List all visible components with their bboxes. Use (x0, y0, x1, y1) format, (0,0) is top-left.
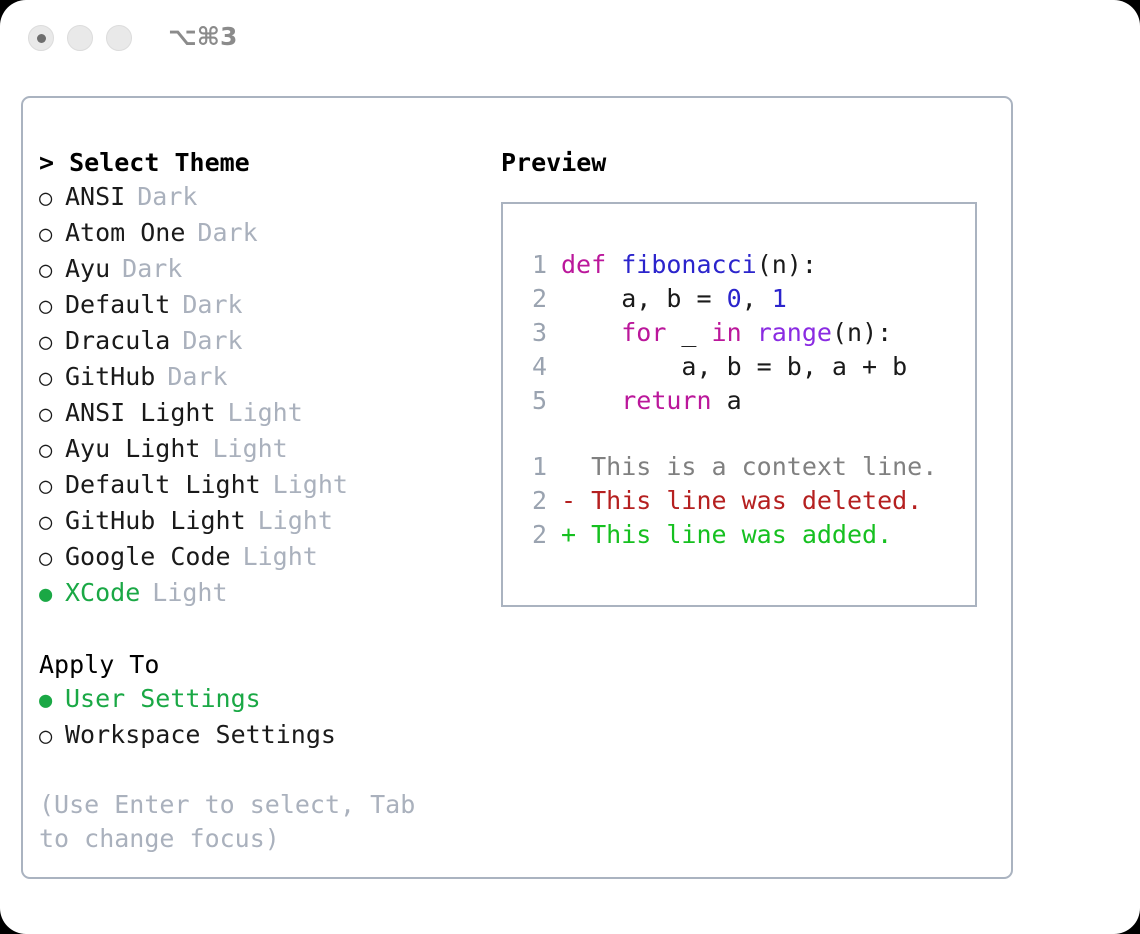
keyboard-hint-text: (Use Enter to select, Tab to change focu… (39, 788, 459, 856)
diff-text: + This line was added. (561, 518, 892, 552)
theme-option-label: GitHub (65, 360, 155, 394)
code-text: a, b = b, a + b (561, 350, 907, 384)
token-fn: fibonacci (621, 250, 756, 279)
theme-option-kind: Dark (137, 180, 197, 214)
keyboard-shortcut-label: ⌥⌘3 (168, 22, 237, 51)
apply-option-0[interactable]: ●User Settings (39, 682, 479, 718)
token-plain (561, 318, 621, 347)
code-text: def fibonacci(n): (561, 248, 817, 282)
theme-option-kind: Light (273, 468, 348, 502)
record-inner-dot (37, 34, 46, 43)
radio-unselected-icon: ○ (39, 362, 65, 396)
token-add: + This line was added. (561, 520, 892, 549)
diff-line: 2- This line was deleted. (517, 484, 967, 518)
theme-option-7[interactable]: ○Ayu LightLight (39, 432, 479, 468)
theme-option-5[interactable]: ○GitHubDark (39, 360, 479, 396)
radio-unselected-icon: ○ (39, 326, 65, 360)
theme-option-11[interactable]: ●XCodeLight (39, 576, 479, 612)
theme-option-8[interactable]: ○Default LightLight (39, 468, 479, 504)
token-call: range (757, 318, 832, 347)
token-plain (742, 318, 757, 347)
diff-line: 1 This is a context line. (517, 450, 967, 484)
code-lineno: 2 (517, 282, 547, 316)
theme-option-label: XCode (65, 576, 140, 610)
token-kw: return (621, 386, 711, 415)
theme-option-label: Default Light (65, 468, 261, 502)
radio-unselected-icon: ○ (39, 398, 65, 432)
select-theme-header: > Select Theme (39, 146, 479, 180)
token-plain: (n): (832, 318, 892, 347)
theme-option-kind: Light (243, 540, 318, 574)
theme-picker-column: > Select Theme ○ANSIDark○Atom OneDark○Ay… (39, 146, 479, 856)
token-plain: a, b = (561, 284, 727, 313)
theme-option-label: Dracula (65, 324, 170, 358)
radio-unselected-icon: ○ (39, 434, 65, 468)
code-sample: 1def fibonacci(n):2 a, b = 0, 13 for _ i… (517, 248, 967, 418)
theme-option-label: Default (65, 288, 170, 322)
token-del: - This line was deleted. (561, 486, 922, 515)
token-plain: _ (666, 318, 711, 347)
apply-option-1[interactable]: ○Workspace Settings (39, 718, 479, 754)
code-line: 1def fibonacci(n): (517, 248, 967, 282)
main-panel: > Select Theme ○ANSIDark○Atom OneDark○Ay… (21, 96, 1013, 879)
token-plain: a (712, 386, 742, 415)
token-num: 0 (727, 284, 742, 313)
apply-to-list: ●User Settings○Workspace Settings (39, 682, 479, 754)
code-line: 5 return a (517, 384, 967, 418)
apply-option-label: User Settings (65, 682, 261, 716)
code-text: return a (561, 384, 742, 418)
code-line: 3 for _ in range(n): (517, 316, 967, 350)
theme-option-label: Google Code (65, 540, 231, 574)
radio-selected-icon: ● (39, 578, 65, 612)
radio-selected-icon: ● (39, 684, 65, 718)
theme-option-3[interactable]: ○DefaultDark (39, 288, 479, 324)
token-kw: for (621, 318, 666, 347)
theme-option-4[interactable]: ○DraculaDark (39, 324, 479, 360)
record-dot-icon[interactable] (28, 25, 54, 51)
apply-to-header: Apply To (39, 648, 479, 682)
theme-option-label: Ayu (65, 252, 110, 286)
theme-option-kind: Light (258, 504, 333, 538)
theme-option-kind: Light (152, 576, 227, 610)
theme-option-kind: Dark (122, 252, 182, 286)
theme-option-label: GitHub Light (65, 504, 246, 538)
radio-unselected-icon: ○ (39, 218, 65, 252)
token-plain (561, 386, 621, 415)
theme-option-9[interactable]: ○GitHub LightLight (39, 504, 479, 540)
preview-title: Preview (501, 146, 991, 180)
theme-option-label: Atom One (65, 216, 185, 250)
code-lineno: 5 (517, 384, 547, 418)
theme-option-kind: Dark (167, 360, 227, 394)
traffic-light-group (28, 25, 132, 51)
apply-option-label: Workspace Settings (65, 718, 336, 752)
diff-text: This is a context line. (561, 450, 937, 484)
theme-option-kind: Light (212, 432, 287, 466)
theme-option-kind: Dark (182, 324, 242, 358)
theme-option-0[interactable]: ○ANSIDark (39, 180, 479, 216)
theme-option-2[interactable]: ○AyuDark (39, 252, 479, 288)
theme-option-label: Ayu Light (65, 432, 200, 466)
window-dot-icon-2[interactable] (67, 25, 93, 51)
diff-lineno: 1 (517, 450, 547, 484)
radio-unselected-icon: ○ (39, 182, 65, 216)
theme-option-kind: Light (228, 396, 303, 430)
code-text: for _ in range(n): (561, 316, 892, 350)
radio-unselected-icon: ○ (39, 542, 65, 576)
diff-line: 2+ This line was added. (517, 518, 967, 552)
code-line: 2 a, b = 0, 1 (517, 282, 967, 316)
preview-box: 1def fibonacci(n):2 a, b = 0, 13 for _ i… (501, 202, 977, 607)
diff-lineno: 2 (517, 484, 547, 518)
theme-option-kind: Dark (197, 216, 257, 250)
token-num: 1 (772, 284, 787, 313)
theme-option-10[interactable]: ○Google CodeLight (39, 540, 479, 576)
theme-list: ○ANSIDark○Atom OneDark○AyuDark○DefaultDa… (39, 180, 479, 612)
theme-option-label: ANSI (65, 180, 125, 214)
radio-unselected-icon: ○ (39, 506, 65, 540)
diff-text: - This line was deleted. (561, 484, 922, 518)
theme-option-kind: Dark (182, 288, 242, 322)
preview-column: Preview 1def fibonacci(n):2 a, b = 0, 13… (501, 146, 991, 607)
code-line: 4 a, b = b, a + b (517, 350, 967, 384)
radio-unselected-icon: ○ (39, 720, 65, 754)
token-plain: (n): (757, 250, 817, 279)
code-lineno: 4 (517, 350, 547, 384)
token-kw: in (712, 318, 742, 347)
code-lineno: 1 (517, 248, 547, 282)
diff-sample: 1 This is a context line.2- This line wa… (517, 450, 967, 552)
token-kw: def (561, 250, 621, 279)
token-ctx: This is a context line. (561, 452, 937, 481)
title-bar: ⌥⌘3 (0, 0, 1140, 78)
theme-option-label: ANSI Light (65, 396, 216, 430)
diff-lineno: 2 (517, 518, 547, 552)
radio-unselected-icon: ○ (39, 470, 65, 504)
theme-option-6[interactable]: ○ANSI LightLight (39, 396, 479, 432)
token-plain: , (742, 284, 772, 313)
theme-option-1[interactable]: ○Atom OneDark (39, 216, 479, 252)
radio-unselected-icon: ○ (39, 254, 65, 288)
token-plain: a, b = b, a + b (561, 352, 907, 381)
code-text: a, b = 0, 1 (561, 282, 787, 316)
radio-unselected-icon: ○ (39, 290, 65, 324)
window-dot-icon-3[interactable] (106, 25, 132, 51)
preview-code-area: 1def fibonacci(n):2 a, b = 0, 13 for _ i… (517, 248, 967, 552)
code-lineno: 3 (517, 316, 547, 350)
app-window: ⌥⌘3 > Select Theme ○ANSIDark○Atom OneDar… (0, 0, 1140, 934)
